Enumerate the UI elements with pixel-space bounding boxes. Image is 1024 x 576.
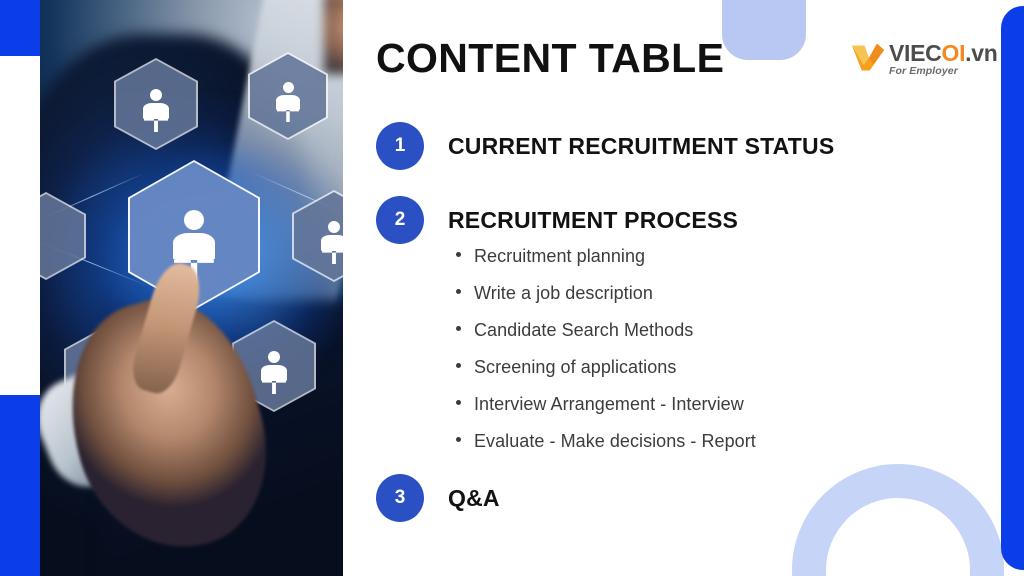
section-label-3: Q&A — [448, 485, 500, 512]
bullet-dot-icon — [456, 363, 461, 368]
person-pictogram — [283, 82, 294, 109]
logo-word-part3: .vn — [965, 40, 997, 66]
logo-wordmark: VIECOI.vn — [889, 42, 998, 65]
list-item-label: Write a job description — [474, 283, 653, 304]
person-pictogram — [328, 221, 340, 250]
section-label-1: CURRENT RECRUITMENT STATUS — [448, 133, 834, 160]
left-edge-blue-bar-bottom — [0, 395, 40, 576]
list-item[interactable]: Evaluate - Make decisions - Report — [456, 431, 756, 468]
section-row-2[interactable]: 2 RECRUITMENT PROCESS — [376, 196, 738, 244]
section-row-1[interactable]: 1 CURRENT RECRUITMENT STATUS — [376, 122, 834, 170]
list-item-label: Evaluate - Make decisions - Report — [474, 431, 756, 452]
recruitment-process-list: Recruitment planning Write a job descrip… — [456, 246, 756, 468]
person-pictogram — [184, 210, 204, 259]
section-number-badge-1: 1 — [376, 122, 424, 170]
section-number-badge-2: 2 — [376, 196, 424, 244]
section-label-2: RECRUITMENT PROCESS — [448, 207, 738, 234]
list-item[interactable]: Interview Arrangement - Interview — [456, 394, 756, 431]
left-edge-blue-bar-top — [0, 0, 40, 56]
bullet-dot-icon — [456, 400, 461, 405]
recruitment-photo — [40, 0, 343, 576]
slide: CONTENT TABLE VIECOI.vn For Employer 1 C… — [0, 0, 1024, 576]
logo-word-part2: OI — [941, 40, 965, 66]
logo-word-part1: VIEC — [889, 40, 941, 66]
list-item-label: Candidate Search Methods — [474, 320, 693, 341]
page-title: CONTENT TABLE — [376, 38, 724, 79]
list-item[interactable]: Recruitment planning — [456, 246, 756, 283]
list-item-label: Interview Arrangement - Interview — [474, 394, 744, 415]
bullet-dot-icon — [456, 326, 461, 331]
list-item[interactable]: Write a job description — [456, 283, 756, 320]
viecoi-bird-mark-icon — [850, 41, 886, 75]
list-item[interactable]: Screening of applications — [456, 357, 756, 394]
bullet-dot-icon — [456, 252, 461, 257]
viecoi-logo: VIECOI.vn For Employer — [850, 36, 996, 80]
right-edge-blue-panel — [1001, 6, 1024, 570]
bullet-dot-icon — [456, 289, 461, 294]
section-row-3[interactable]: 3 Q&A — [376, 474, 500, 522]
person-pictogram — [268, 351, 280, 380]
list-item-label: Screening of applications — [474, 357, 676, 378]
person-pictogram — [150, 89, 162, 118]
section-number-badge-3: 3 — [376, 474, 424, 522]
content-column: CONTENT TABLE VIECOI.vn For Employer 1 C… — [376, 0, 1001, 576]
list-item-label: Recruitment planning — [474, 246, 645, 267]
list-item[interactable]: Candidate Search Methods — [456, 320, 756, 357]
photo-face-blur — [324, 0, 343, 74]
bullet-dot-icon — [456, 437, 461, 442]
logo-tagline: For Employer — [889, 66, 998, 77]
